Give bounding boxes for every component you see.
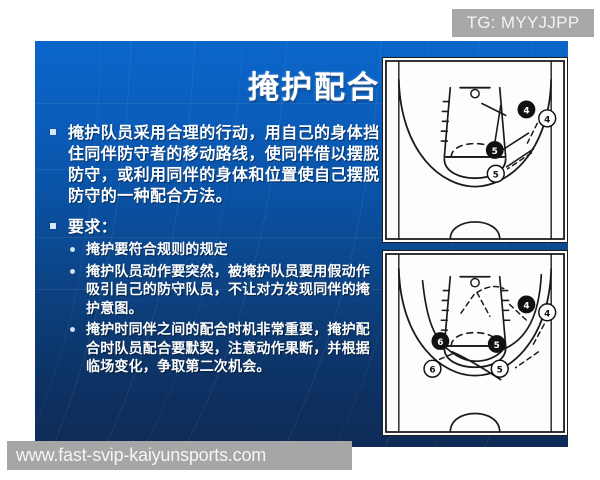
player-marker-5-outline: 5 [491,360,508,377]
square-bullet-icon [50,223,56,229]
watermark-bottom: www.fast-svip-kaiyunsports.com [7,441,352,470]
bullet-text: 要求： [68,217,117,236]
svg-text:5: 5 [494,341,500,351]
player-marker-5-filled: 5 [486,142,503,159]
player-marker-4-outline: 4 [539,304,556,321]
svg-text:5: 5 [493,171,499,181]
bullet-level2: 掩护队员动作要突然，被掩护队员要用假动作吸引自己的防守队员，不让对方发现同伴的掩… [40,263,380,319]
bullet-text: 掩护队员动作要突然，被掩护队员要用假动作吸引自己的防守队员，不让对方发现同伴的掩… [86,264,370,317]
square-bullet-icon [50,129,56,135]
bullet-text: 掩护时同伴之间的配合时机非常重要，掩护配合时队员配合要默契，注意动作果断，并根据… [86,322,370,375]
slide-title: 掩护配合 [40,62,380,107]
bullet-text: 掩护要符合规则的规定 [86,242,228,258]
svg-text:4: 4 [544,115,550,125]
svg-text:4: 4 [544,309,550,319]
player-marker-4-filled: 4 [518,296,535,313]
player-marker-6-outline: 6 [424,360,441,377]
player-marker-6-filled: 6 [432,333,449,350]
player-marker-5-outline: 5 [487,165,504,182]
player-marker-5-filled: 5 [488,336,505,353]
sub-bullet-list: 掩护要符合规则的规定 掩护队员动作要突然，被掩护队员要用假动作吸引自己的防守队员… [40,241,380,377]
round-bullet-icon [70,247,75,252]
round-bullet-icon [70,269,75,274]
svg-text:4: 4 [523,106,529,116]
bullet-level1: 掩护队员采用合理的行动，用自己的身体挡住同伴防守者的移动路线，使同伴借以摆脱防守… [40,122,380,206]
svg-text:6: 6 [429,366,435,376]
bullet-level2: 掩护要符合规则的规定 [40,241,380,260]
slide-body: 掩护队员采用合理的行动，用自己的身体挡住同伴防守者的移动路线，使同伴借以摆脱防守… [40,122,380,380]
svg-text:4: 4 [523,301,529,311]
court-diagram-bottom: 6 6 5 5 4 4 [382,250,568,436]
player-marker-4-filled: 4 [518,101,535,118]
svg-text:5: 5 [492,147,498,157]
player-marker-4-outline: 4 [539,110,556,127]
bullet-level2: 掩护时同伴之间的配合时机非常重要，掩护配合时队员配合要默契，注意动作果断，并根据… [40,321,380,377]
bullet-level1: 要求： [40,216,380,237]
screenshot-canvas: 掩护配合 掩护队员采用合理的行动，用自己的身体挡住同伴防守者的移动路线，使同伴借… [0,0,600,480]
court-diagram-top: 4 4 5 5 [382,57,568,243]
watermark-top: TG: MYYJJPP [452,9,594,37]
svg-text:5: 5 [497,366,503,376]
bullet-text: 掩护队员采用合理的行动，用自己的身体挡住同伴防守者的移动路线，使同伴借以摆脱防守… [68,123,380,205]
svg-text:6: 6 [437,338,443,348]
round-bullet-icon [70,327,75,332]
